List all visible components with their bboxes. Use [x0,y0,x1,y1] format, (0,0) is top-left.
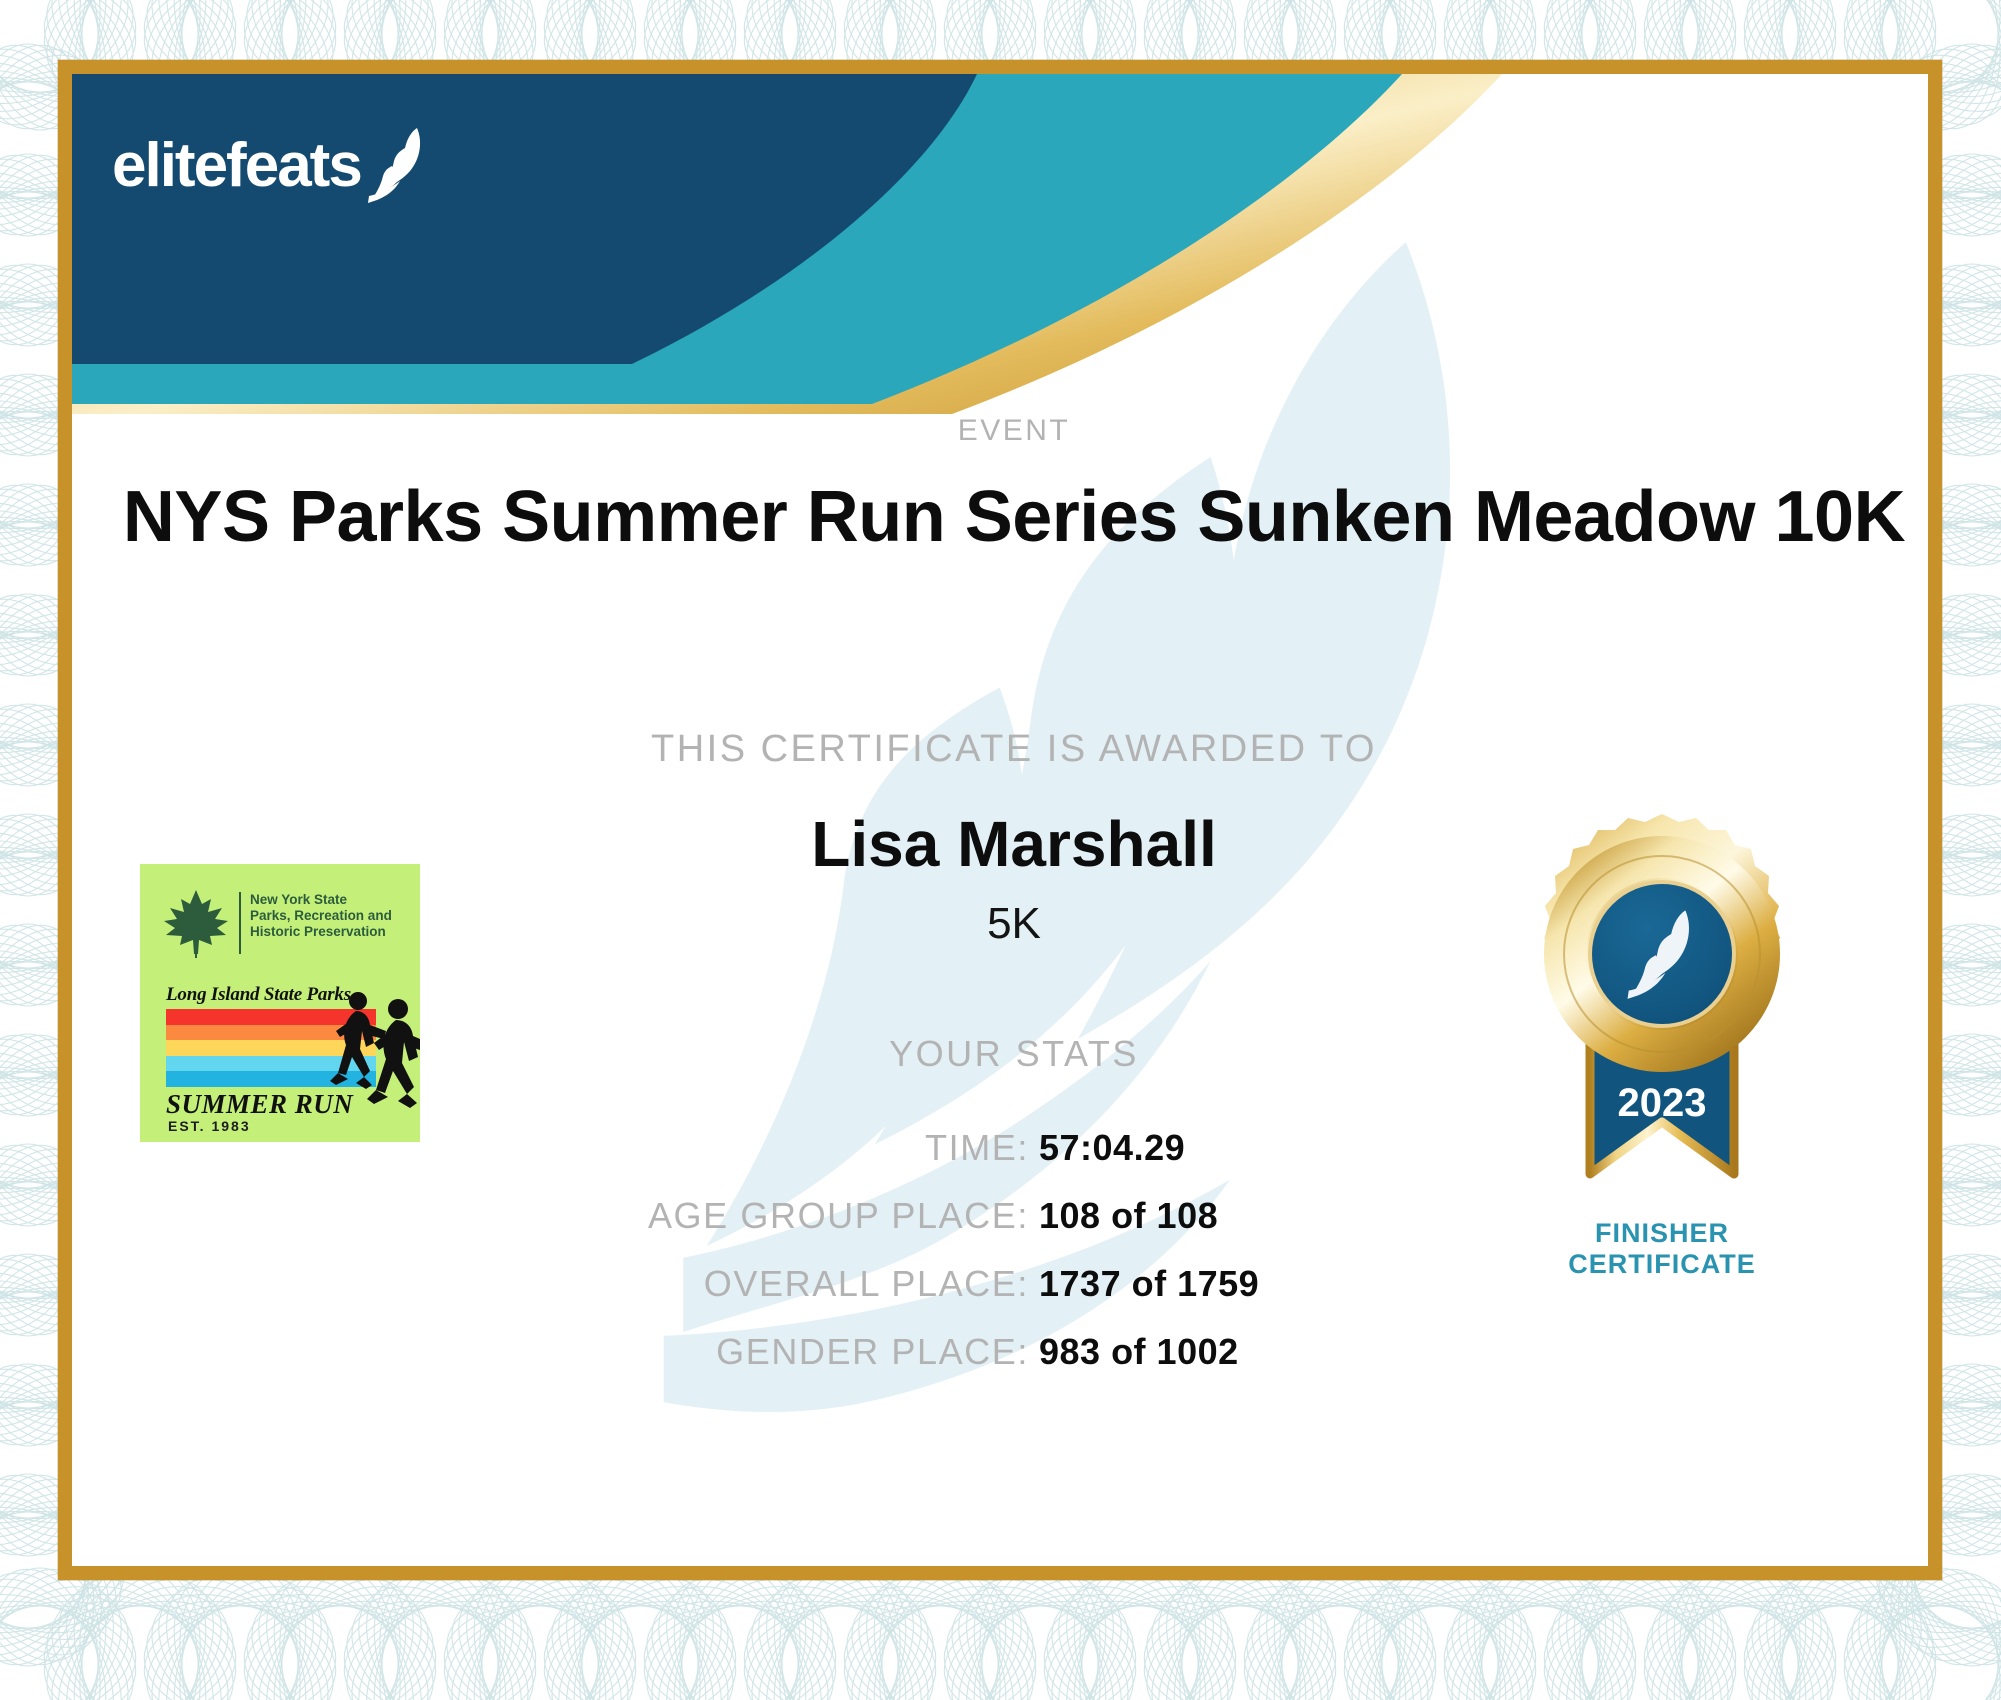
agency-line-3: Historic Preservation [250,924,386,939]
header-banner [72,74,1928,414]
rainbow-stripes [166,1009,376,1087]
finisher-seal: 2023 FINISHER CERTIFICATE [1512,804,1812,1304]
stat-row-age-group-place: AGE GROUP PLACE: 108 of 108 [424,1195,1604,1237]
stat-row-gender-place: GENDER PLACE: 983 of 1002 [424,1331,1604,1373]
stat-row-overall-place: OVERALL PLACE: 1737 of 1759 [424,1263,1604,1305]
stat-row-time: TIME: 57:04.29 [424,1127,1604,1169]
winged-foot-icon [365,126,435,204]
stat-key: GENDER PLACE: [429,1331,1039,1373]
runners-icon [328,987,420,1109]
certificate-frame: elitefeats EVENT NYS Parks Summer [58,60,1942,1580]
certificate-page: elitefeats EVENT NYS Parks Summer [0,0,2001,1700]
sponsor-agency-name: New York State Parks, Recreation and His… [250,892,392,940]
seal-caption-line-2: CERTIFICATE [1512,1249,1812,1280]
seal-caption: FINISHER CERTIFICATE [1512,1218,1812,1280]
established-year: EST. 1983 [140,1118,420,1134]
maple-leaf-icon [162,888,230,960]
stat-value: 983 of 1002 [1039,1331,1599,1373]
summer-run-block: Long Island State Parks [140,984,420,1134]
sponsor-agency-block: New York State Parks, Recreation and His… [140,864,420,960]
stat-key: TIME: [429,1127,1039,1169]
brand-logo: elitefeats [112,126,435,204]
seal-caption-line-1: FINISHER [1512,1218,1812,1249]
sponsor-logo: New York State Parks, Recreation and His… [140,864,420,1142]
brand-name: elitefeats [112,130,361,201]
awarded-to-label: THIS CERTIFICATE IS AWARDED TO [72,728,1928,771]
stat-key: AGE GROUP PLACE: [429,1195,1039,1237]
seal-year: 2023 [1618,1081,1707,1125]
agency-line-2: Parks, Recreation and [250,908,392,923]
event-title: NYS Parks Summer Run Series Sunken Meado… [72,476,1928,558]
stat-key: OVERALL PLACE: [429,1263,1039,1305]
event-label: EVENT [72,414,1928,448]
gold-medal-icon: 2023 [1512,804,1812,1224]
agency-line-1: New York State [250,892,347,907]
logo-divider [239,892,241,954]
